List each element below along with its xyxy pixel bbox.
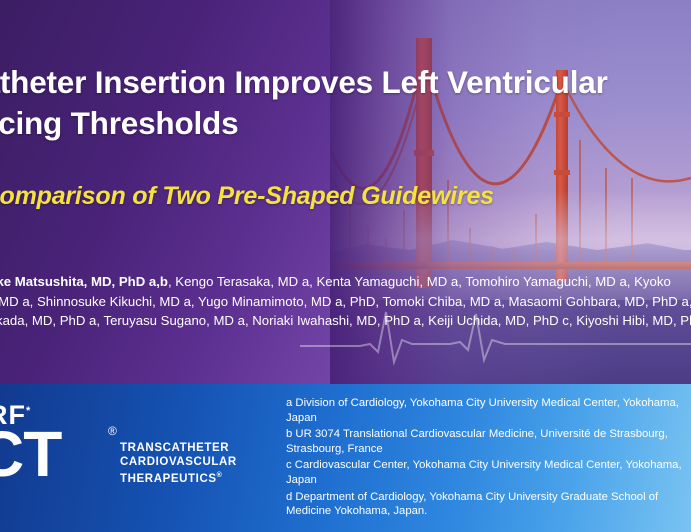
tct-logo-text: CT	[0, 422, 61, 486]
tct-trademark: ®	[108, 424, 117, 438]
presentation-slide: Catheter Insertion Improves Left Ventric…	[0, 0, 691, 532]
affiliation-item: a Division of Cardiology, Yokohama City …	[286, 396, 686, 425]
affiliation-item: d Department of Cardiology, Yokohama Cit…	[286, 490, 686, 519]
title-line-1: Catheter Insertion Improves Left Ventric…	[0, 62, 691, 103]
affiliation-item: c Cardiovascular Center, Yokohama City U…	[286, 458, 686, 487]
wordmark-line-1: TRANSCATHETER	[120, 442, 237, 456]
affiliation-item: b UR 3074 Translational Cardiovascular M…	[286, 427, 686, 456]
wordmark-line-3-text: THERAPEUTICS	[120, 473, 217, 485]
wordmark-line-2: CARDIOVASCULAR	[120, 456, 237, 470]
page-title: Catheter Insertion Improves Left Ventric…	[0, 62, 691, 144]
wordmark-trademark: ®	[217, 472, 223, 479]
page-subtitle: A Comparison of Two Pre-Shaped Guidewire…	[0, 182, 691, 211]
lead-author: Takayuke Matsushita, MD, PhD a,b	[0, 274, 168, 289]
tct-logo-wordmark: TRANSCATHETER CARDIOVASCULAR THERAPEUTIC…	[120, 442, 237, 486]
logo-block: RF* CT ® TRANSCATHETER CARDIOVASCULAR TH…	[0, 384, 276, 532]
wordmark-line-3: THERAPEUTICS®	[120, 469, 237, 486]
author-list: Takayuke Matsushita, MD, PhD a,b, Kengo …	[0, 272, 691, 350]
crf-trademark: *	[26, 405, 31, 417]
title-line-2: Pacing Thresholds	[0, 103, 691, 144]
affiliations-list: a Division of Cardiology, Yokohama City …	[286, 396, 686, 521]
slide-footer-bar: RF* CT ® TRANSCATHETER CARDIOVASCULAR TH…	[0, 384, 691, 532]
